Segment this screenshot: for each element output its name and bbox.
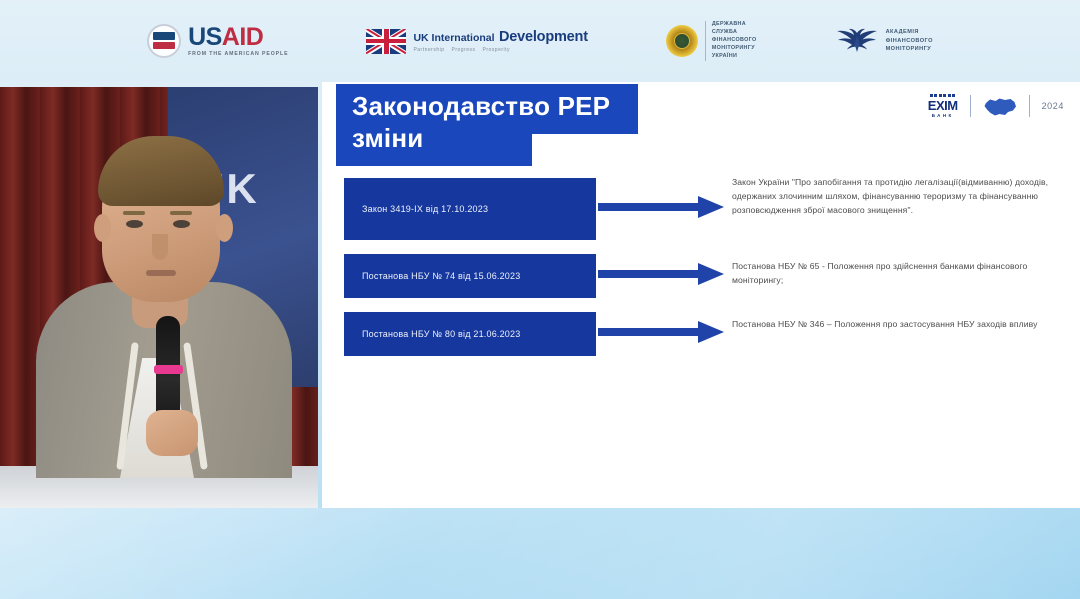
speaker-eye-left [126, 220, 143, 228]
speaker-eye-right [173, 220, 190, 228]
presentation-stage: UK Законодавство PEP зміни [0, 82, 1080, 508]
uk-logo-line1: UK International [413, 32, 494, 44]
legislation-flow-diagram: Закон 3419-IX від 17.10.2023 Закон Украї… [344, 178, 1068, 356]
ukraine-map-icon [983, 95, 1017, 118]
flow-row: Постанова НБУ № 74 від 15.06.2023 Постан… [344, 254, 1068, 298]
uk-logo-sub3: Prosperity [483, 48, 511, 53]
speaker-eyebrow-left [123, 211, 145, 215]
exim-bank-subtitle: БАНК [932, 114, 954, 119]
flow-arrow-icon [598, 262, 724, 286]
speaker-hand [146, 410, 198, 456]
law-description: Постанова НБУ № 346 – Положення про заст… [732, 316, 1062, 332]
sfms-emblem-icon [666, 25, 698, 57]
speaker-eyebrow-right [170, 211, 192, 215]
uk-logo-line2: Development [499, 29, 588, 45]
uk-wordmark: UK International Development Partnership… [413, 29, 587, 53]
speaker-nose [152, 234, 168, 260]
usaid-seal-icon [147, 24, 181, 58]
exim-bank-name: EXIM [928, 99, 958, 112]
flow-arrow-icon [598, 195, 724, 219]
uk-logo-sub2: Progress [452, 48, 476, 53]
flow-row: Постанова НБУ № 80 від 21.06.2023 Постан… [344, 312, 1068, 356]
brand-divider-2 [1029, 95, 1030, 117]
academy-logo-text: АКАДЕМІЯ ФІНАНСОВОГО МОНІТОРИНГУ [886, 28, 933, 54]
brand-divider-1 [970, 95, 971, 117]
sponsor-logo-band: USAID FROM THE AMERICAN PEOPLE UK Intern… [0, 0, 1080, 82]
usaid-tagline: FROM THE AMERICAN PEOPLE [188, 52, 288, 57]
uk-logo-sub1: Partnership [413, 48, 444, 53]
law-description: Закон України "Про запобігання та протид… [732, 174, 1062, 218]
slide-title: Законодавство PEP зміни [352, 91, 652, 154]
uk-international-development-logo: UK International Development Partnership… [366, 29, 587, 54]
sfms-logo-text: ДЕРЖАВНА СЛУЖБА ФІНАНСОВОГО МОНІТОРИНГУ … [705, 21, 757, 60]
page-footer-background [0, 508, 1080, 599]
presentation-slide: Законодавство PEP зміни EXIM БАНК 2024 З… [322, 82, 1080, 508]
law-chip[interactable]: Постанова НБУ № 74 від 15.06.2023 [344, 254, 596, 298]
law-description: Постанова НБУ № 65 - Положення про здійс… [732, 258, 1062, 288]
usaid-wordmark: USAID FROM THE AMERICAN PEOPLE [188, 25, 288, 57]
usaid-word-aid: AID [222, 23, 264, 51]
sfms-ukraine-logo: ДЕРЖАВНА СЛУЖБА ФІНАНСОВОГО МОНІТОРИНГУ … [666, 21, 757, 60]
usaid-logo: USAID FROM THE AMERICAN PEOPLE [147, 24, 288, 58]
union-jack-flag-icon [366, 29, 406, 54]
speaker-hair [98, 136, 224, 206]
speaker-video-feed[interactable]: UK [0, 87, 318, 508]
speaker-mouth [146, 270, 176, 276]
microphone-band [154, 365, 183, 374]
slide-year: 2024 [1042, 101, 1064, 111]
exim-bank-logo: EXIM БАНК [928, 94, 958, 119]
law-chip[interactable]: Закон 3419-IX від 17.10.2023 [344, 178, 596, 240]
academy-financial-monitoring-logo: АКАДЕМІЯ ФІНАНСОВОГО МОНІТОРИНГУ [835, 27, 933, 55]
slide-brand-strip: EXIM БАНК 2024 [928, 94, 1064, 119]
speaker-ear-right [216, 214, 233, 242]
usaid-word-us: US [188, 23, 222, 51]
flow-row: Закон 3419-IX від 17.10.2023 Закон Украї… [344, 178, 1068, 240]
law-chip[interactable]: Постанова НБУ № 80 від 21.06.2023 [344, 312, 596, 356]
speaker-ear-left [94, 214, 111, 242]
eagle-icon [835, 27, 879, 55]
speaker-figure [28, 126, 298, 478]
flow-arrow-icon [598, 320, 724, 344]
